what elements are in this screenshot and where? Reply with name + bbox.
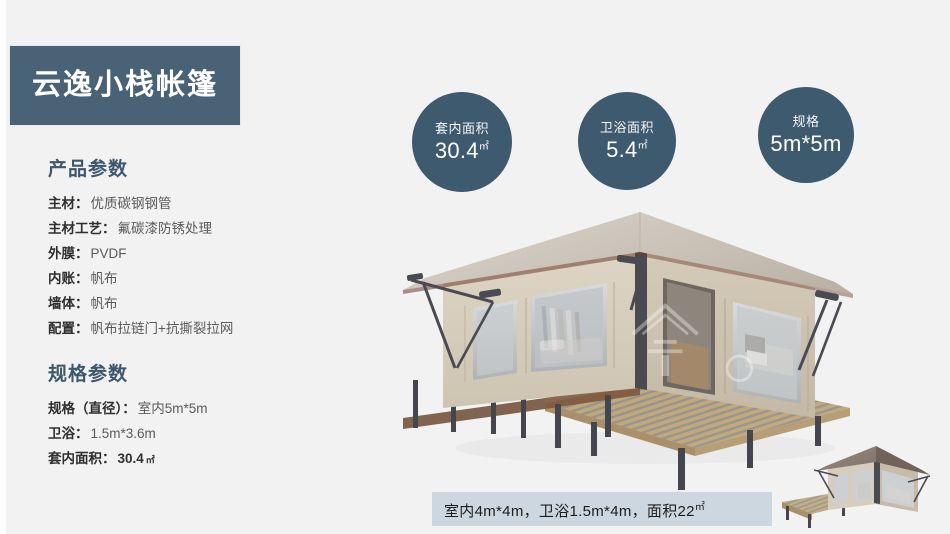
caption-text: 室内4m*4m，卫浴1.5m*4m，面积22㎡ <box>444 498 705 521</box>
stat-badge-dimensions: 规格 5m*5m <box>758 87 854 183</box>
spec-key: 主材： <box>48 191 89 216</box>
spec-row: 套内面积： 30.4 ㎡ <box>48 446 348 473</box>
interior-bed-left <box>539 338 602 364</box>
spec-key: 配置： <box>48 316 89 341</box>
spec-value: PVDF <box>91 241 127 266</box>
pile <box>413 380 418 428</box>
spec-value-unit: ㎡ <box>146 448 155 473</box>
badge-value: 5.4㎡ <box>606 138 648 161</box>
badge-label: 规格 <box>792 115 819 129</box>
section-heading-product: 产品参数 <box>48 160 348 179</box>
badge-value-number: 5.4 <box>606 137 637 162</box>
spec-value: 帆布 <box>91 291 118 316</box>
spec-row: 规格（直径）： 室内5m*5m <box>48 396 348 421</box>
spec-key: 墙体： <box>48 291 89 316</box>
spec-row: 主材： 优质碳钢钢管 <box>48 191 348 216</box>
thumbnail-svg <box>772 440 942 530</box>
spec-key: 内账： <box>48 266 89 291</box>
spec-panel: 产品参数 主材： 优质碳钢钢管 主材工艺： 氟碳漆防锈处理 外膜： PVDF 内… <box>48 160 348 473</box>
spec-row: 卫浴： 1.5m*3.6m <box>48 421 348 446</box>
spec-row: 配置： 帆布拉链门+抗撕裂拉网 <box>48 316 348 341</box>
section-heading-specs: 规格参数 <box>48 365 348 384</box>
spec-key: 主材工艺： <box>48 216 116 241</box>
badge-value-unit: ㎡ <box>638 141 648 152</box>
deck-leg <box>678 448 685 490</box>
pile <box>521 396 526 438</box>
caption-main: 室内4m*4m，卫浴1.5m*4m，面积22 <box>444 503 695 520</box>
badge-value-number: 30.4 <box>435 138 479 163</box>
door-floor <box>671 340 708 390</box>
spec-row: 外膜： PVDF <box>48 241 348 266</box>
spec-value: 帆布拉链门+抗撕裂拉网 <box>91 316 234 341</box>
spec-key: 规格（直径）： <box>48 396 136 421</box>
badge-label: 套内面积 <box>435 122 489 136</box>
spec-key: 外膜： <box>48 241 89 266</box>
deck-leg <box>747 430 753 468</box>
badge-value-number: 5m*5m <box>770 131 841 156</box>
pile <box>605 395 611 437</box>
stat-badge-bathroom-area: 卫浴面积 5.4㎡ <box>578 92 676 190</box>
spec-key: 套内面积： <box>48 446 116 471</box>
left-edge-strip <box>0 0 6 534</box>
deck-leg <box>591 422 597 456</box>
spec-value: 氟碳漆防锈处理 <box>118 216 213 241</box>
pile <box>555 404 561 448</box>
tent-thumbnail <box>772 440 942 530</box>
spec-key: 卫浴： <box>48 421 89 446</box>
spec-row: 内账： 帆布 <box>48 266 348 291</box>
spec-value: 30.4 <box>118 446 144 471</box>
title-block: 云逸小栈帐篷 <box>10 46 240 125</box>
stat-badge-interior-area: 套内面积 30.4㎡ <box>412 92 512 192</box>
badge-value: 5m*5m <box>770 132 841 155</box>
badge-value: 30.4㎡ <box>435 139 489 162</box>
badge-label: 卫浴面积 <box>600 121 654 135</box>
spec-value: 优质碳钢钢管 <box>91 191 172 216</box>
slide-canvas: 云逸小栈帐篷 产品参数 主材： 优质碳钢钢管 主材工艺： 氟碳漆防锈处理 外膜：… <box>0 0 950 534</box>
spec-value: 室内5m*5m <box>138 396 208 421</box>
spec-value: 1.5m*3.6m <box>91 421 156 446</box>
caption-unit: ㎡ <box>695 502 705 513</box>
spec-value: 帆布 <box>91 266 118 291</box>
badge-value-unit: ㎡ <box>479 142 489 153</box>
corner-post <box>635 246 647 390</box>
caption-bar: 室内4m*4m，卫浴1.5m*4m，面积22㎡ <box>432 492 772 526</box>
spec-row: 主材工艺： 氟碳漆防锈处理 <box>48 216 348 241</box>
page-title: 云逸小栈帐篷 <box>32 71 218 100</box>
spec-row: 墙体： 帆布 <box>48 291 348 316</box>
